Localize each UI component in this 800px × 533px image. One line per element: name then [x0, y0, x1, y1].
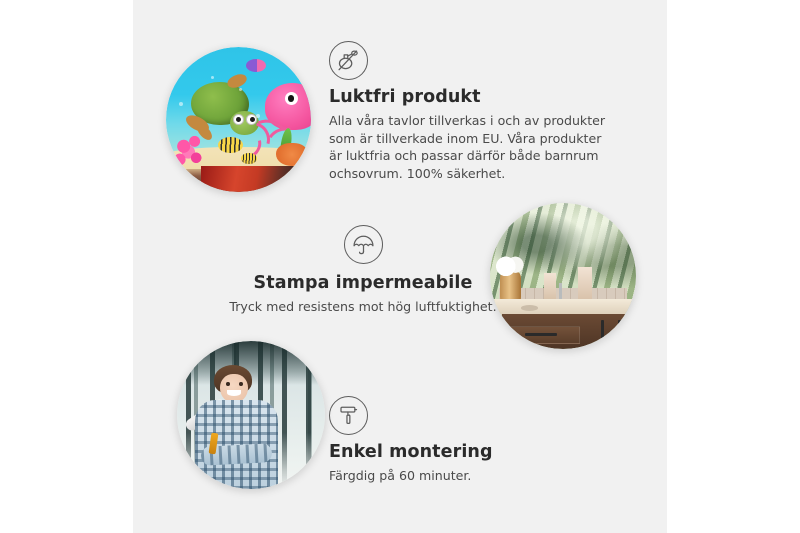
- cabinet-handle-left: [601, 320, 604, 340]
- feature-description: Alla våra tavlor tillverkas i och av pro…: [329, 112, 611, 182]
- underwater-illustration: [166, 47, 311, 192]
- painter-eye-right: [239, 382, 243, 386]
- bubble: [211, 76, 214, 79]
- feature-image-painter-forest: [177, 341, 325, 489]
- letterbox-left: [0, 0, 133, 533]
- painter-face: [220, 374, 248, 404]
- purple-fish: [246, 59, 266, 72]
- icon-wrap: [329, 396, 629, 435]
- feature-block-odour-free: Luktfri produkt Alla våra tavlor tillver…: [329, 41, 629, 182]
- feature-block-easy-mounting: Enkel montering Färgdig på 60 minuter.: [329, 396, 629, 485]
- paint-roller-icon: [329, 396, 368, 435]
- feature-title: Luktfri produkt: [329, 87, 629, 107]
- feature-description: Färgdig på 60 minuter.: [329, 467, 629, 485]
- feature-title: Enkel montering: [329, 442, 629, 462]
- feature-image-underwater-cartoon-scene: [166, 47, 311, 192]
- starfish: [276, 143, 308, 166]
- feature-description: Tryck med resistens mot hög luftfuktighe…: [193, 298, 533, 316]
- yellow-striped-fish-large: [218, 137, 243, 153]
- painter-eye-left: [226, 382, 230, 386]
- photo-bottom-overlay: [201, 166, 303, 192]
- feature-infographic-page: Luktfri produkt Alla våra tavlor tillver…: [0, 0, 800, 533]
- painter-smile: [227, 390, 240, 396]
- bubble: [239, 88, 242, 91]
- painter-photo: [177, 341, 325, 489]
- feature-block-waterproof-print: Stampa impermeabile Tryck med resistens …: [193, 225, 533, 316]
- icon-wrap: [329, 41, 629, 80]
- drawer-handle: [525, 333, 557, 336]
- letterbox-right: [667, 0, 800, 533]
- turtle-eye-left: [233, 114, 244, 125]
- bubble: [256, 114, 260, 118]
- icon-wrap: [193, 225, 533, 264]
- umbrella-icon: [344, 225, 383, 264]
- content-canvas: Luktfri produkt Alla våra tavlor tillver…: [133, 0, 667, 533]
- candle-right: [578, 267, 593, 299]
- no-perfume-spray-icon: [329, 41, 368, 80]
- feature-title: Stampa impermeabile: [193, 273, 533, 293]
- candle-left: [544, 273, 556, 299]
- octopus-eye: [285, 92, 298, 105]
- faucet: [559, 283, 562, 299]
